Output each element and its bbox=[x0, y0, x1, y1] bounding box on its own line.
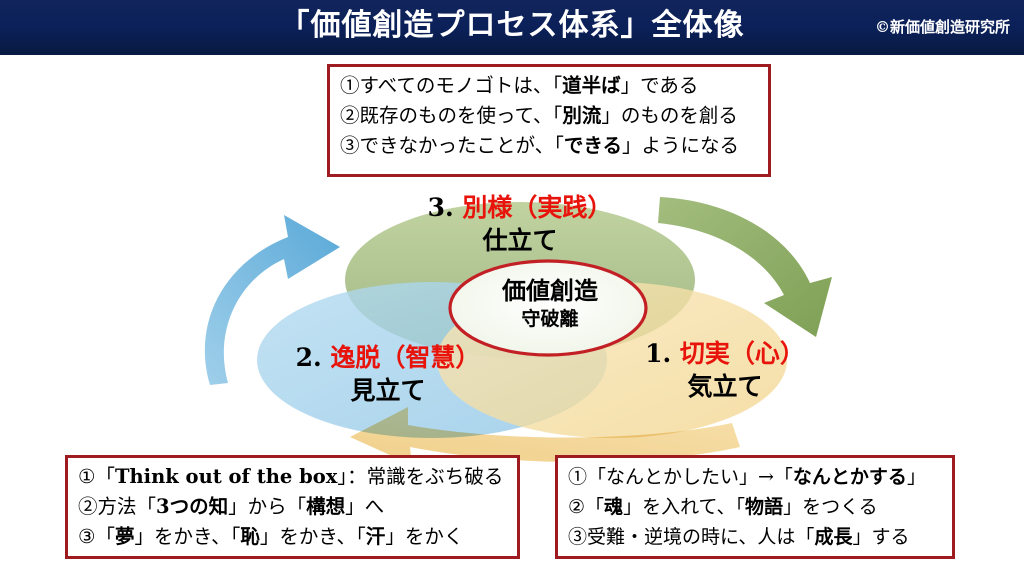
note-text: 」へ bbox=[345, 495, 384, 518]
circle-keyword-heart: 切実（心） bbox=[680, 339, 805, 368]
note-text: ②「 bbox=[568, 496, 604, 518]
circle-number-3: 3. bbox=[428, 193, 454, 222]
note-text: ①「なんとかしたい」→「 bbox=[568, 466, 793, 488]
circle-label-wisdom: 2. 逸脱（智慧） 見立て bbox=[248, 342, 528, 408]
note-keyword: 汗 bbox=[366, 525, 386, 548]
circle-label-practice: 3. 別様（実践） 仕立て bbox=[380, 192, 660, 258]
note-keyword: 恥 bbox=[240, 525, 260, 548]
circle-label-heart: 1. 切実（心） 気立て bbox=[600, 338, 850, 404]
note-keyword: 夢 bbox=[115, 525, 135, 548]
circle-number-1: 1. bbox=[645, 339, 671, 368]
note-text: ②方法「 bbox=[78, 495, 156, 518]
note-keyword: 魂 bbox=[604, 496, 623, 518]
note-line: ③受難・逆境の時に、人は「成長」する bbox=[568, 522, 942, 552]
note-text: 」ようになる bbox=[622, 134, 739, 157]
note-text: 」である bbox=[621, 74, 699, 97]
note-text: ③できなかったことが、「 bbox=[340, 134, 564, 157]
note-line: ③「夢」をかき、「恥」をかき、「汗」をかく bbox=[78, 522, 507, 552]
note-text: ③「 bbox=[78, 525, 115, 548]
circle-subtitle-practice: 仕立て bbox=[380, 224, 660, 258]
circle-subtitle-wisdom: 見立て bbox=[248, 374, 528, 408]
note-line: ②既存のものを使って、「別流」のものを創る bbox=[340, 101, 758, 131]
note-keyword: なんとかする bbox=[793, 466, 907, 488]
note-text: 」 bbox=[907, 466, 926, 488]
center-label-main: 価値創造 bbox=[455, 276, 645, 306]
page-title: 「価値創造プロセス体系」全体像 bbox=[0, 3, 1024, 49]
note-text: 」を入れて、「 bbox=[623, 496, 745, 518]
note-text: 」をかき、「 bbox=[135, 525, 241, 548]
note-text: ①「 bbox=[78, 465, 115, 488]
note-keyword: 物語 bbox=[745, 496, 783, 518]
note-text: 」から「 bbox=[228, 495, 306, 518]
note-text: 」をつくる bbox=[783, 496, 878, 518]
center-label-sub: 守破離 bbox=[455, 306, 645, 332]
note-keyword: 道半ば bbox=[562, 74, 621, 97]
copyright-notice: ©新価値創造研究所 bbox=[875, 16, 1010, 37]
note-text: 」をかき、「 bbox=[260, 525, 366, 548]
note-text: ③受難・逆境の時に、人は「 bbox=[568, 526, 814, 548]
note-box-practice: ①すべてのモノゴトは、「道半ば」である②既存のものを使って、「別流」のものを創る… bbox=[327, 64, 771, 177]
note-line: ②方法「3つの知」から「構想」へ bbox=[78, 492, 507, 522]
note-box-wisdom: ①「Think out of the box」：常識をぶち破る②方法「3つの知」… bbox=[65, 455, 520, 559]
note-text: 」をかく bbox=[385, 525, 463, 548]
circle-number-2: 2. bbox=[296, 343, 322, 372]
circle-subtitle-heart: 気立て bbox=[600, 370, 850, 404]
note-line: ①すべてのモノゴトは、「道半ば」である bbox=[340, 71, 758, 101]
circle-keyword-wisdom: 逸脱（智慧） bbox=[330, 343, 480, 372]
note-keyword: 構想 bbox=[306, 495, 345, 518]
slide-canvas: 「価値創造プロセス体系」全体像 ©新価値創造研究所 bbox=[0, 0, 1024, 576]
note-box-heart: ①「なんとかしたい」→「なんとかする」②「魂」を入れて、「物語」をつくる③受難・… bbox=[555, 455, 955, 559]
header-bar: 「価値創造プロセス体系」全体像 ©新価値創造研究所 bbox=[0, 0, 1024, 55]
circle-keyword-practice: 別様（実践） bbox=[462, 193, 612, 222]
note-line: ①「なんとかしたい」→「なんとかする」 bbox=[568, 462, 942, 492]
note-text: 」：常識をぶち破る bbox=[337, 465, 503, 488]
note-keyword: できる bbox=[564, 134, 622, 157]
note-line: ③できなかったことが、「できる」ようになる bbox=[340, 131, 758, 161]
note-keyword: 成長 bbox=[814, 526, 852, 548]
note-keyword: 3つの知 bbox=[156, 495, 228, 518]
center-label: 価値創造 守破離 bbox=[455, 276, 645, 332]
note-line: ①「Think out of the box」：常識をぶち破る bbox=[78, 462, 507, 492]
note-text: 」のものを創る bbox=[601, 104, 738, 127]
note-line: ②「魂」を入れて、「物語」をつくる bbox=[568, 492, 942, 522]
note-keyword: Think out of the box bbox=[115, 465, 337, 488]
note-keyword: 別流 bbox=[562, 104, 601, 127]
note-text: 」する bbox=[852, 526, 909, 548]
note-text: ①すべてのモノゴトは、「 bbox=[340, 74, 562, 97]
note-text: ②既存のものを使って、「 bbox=[340, 104, 562, 127]
